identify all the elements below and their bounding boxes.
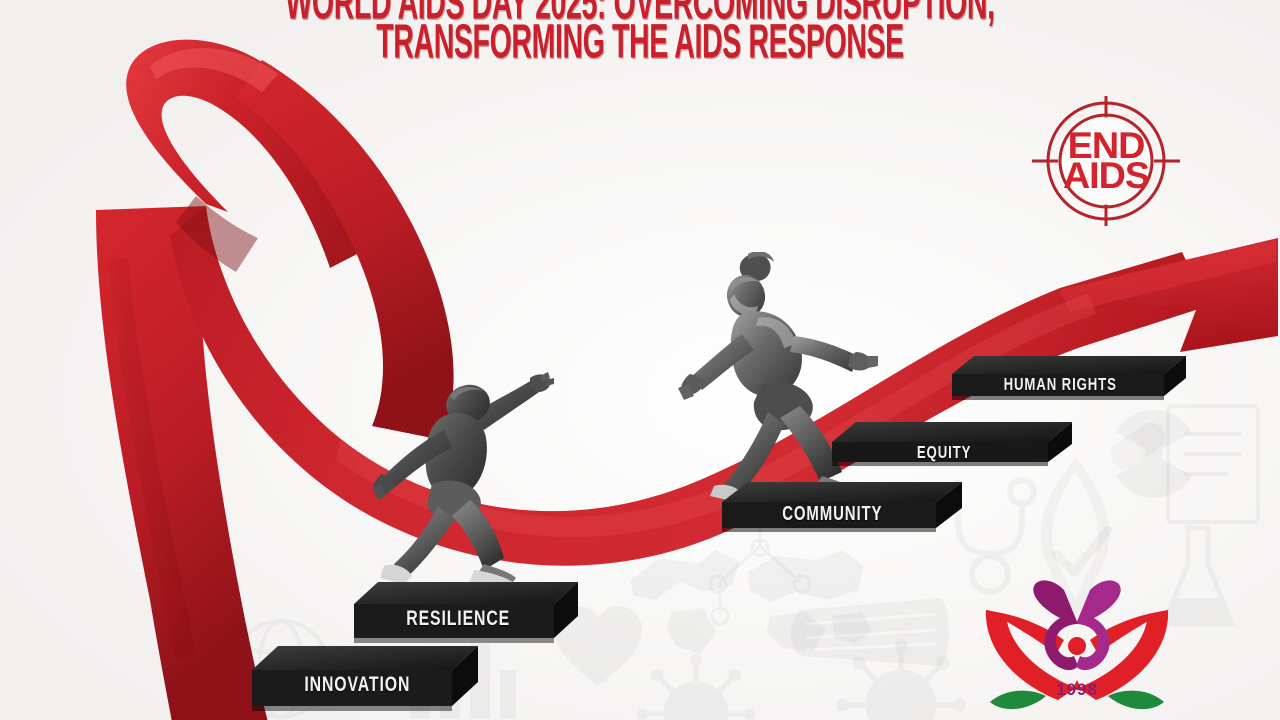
platform-equity: EQUITY: [828, 418, 1076, 474]
poster-canvas: WORLD AIDS DAY 2025: OVERCOMING DISRUPTI…: [0, 0, 1280, 720]
platform-innovation: INNOVATION: [252, 640, 482, 720]
end-aids-line-2: AIDS: [1063, 161, 1149, 191]
organization-logo-year: 1998: [972, 680, 1182, 700]
platform-label-resilience: RESILIENCE: [366, 606, 568, 631]
platform-label-equity: EQUITY: [843, 442, 1061, 462]
end-aids-target-badge: END AIDS: [1024, 92, 1188, 230]
figure-runner-lower: [358, 372, 590, 594]
platform-label-human-rights: HUMAN RIGHTS: [963, 374, 1176, 394]
platform-label-community: COMMUNITY: [733, 502, 951, 526]
platform-label-innovation: INNOVATION: [266, 672, 468, 697]
title-line-2: TRANSFORMING THE AIDS RESPONSE: [102, 19, 1177, 65]
end-aids-badge-text: END AIDS: [1022, 92, 1189, 230]
platform-human-rights: HUMAN RIGHTS: [948, 352, 1190, 408]
platform-community: COMMUNITY: [718, 478, 966, 540]
poster-title: WORLD AIDS DAY 2025: OVERCOMING DISRUPTI…: [0, 0, 1280, 52]
organization-logo: 1998: [972, 576, 1182, 720]
